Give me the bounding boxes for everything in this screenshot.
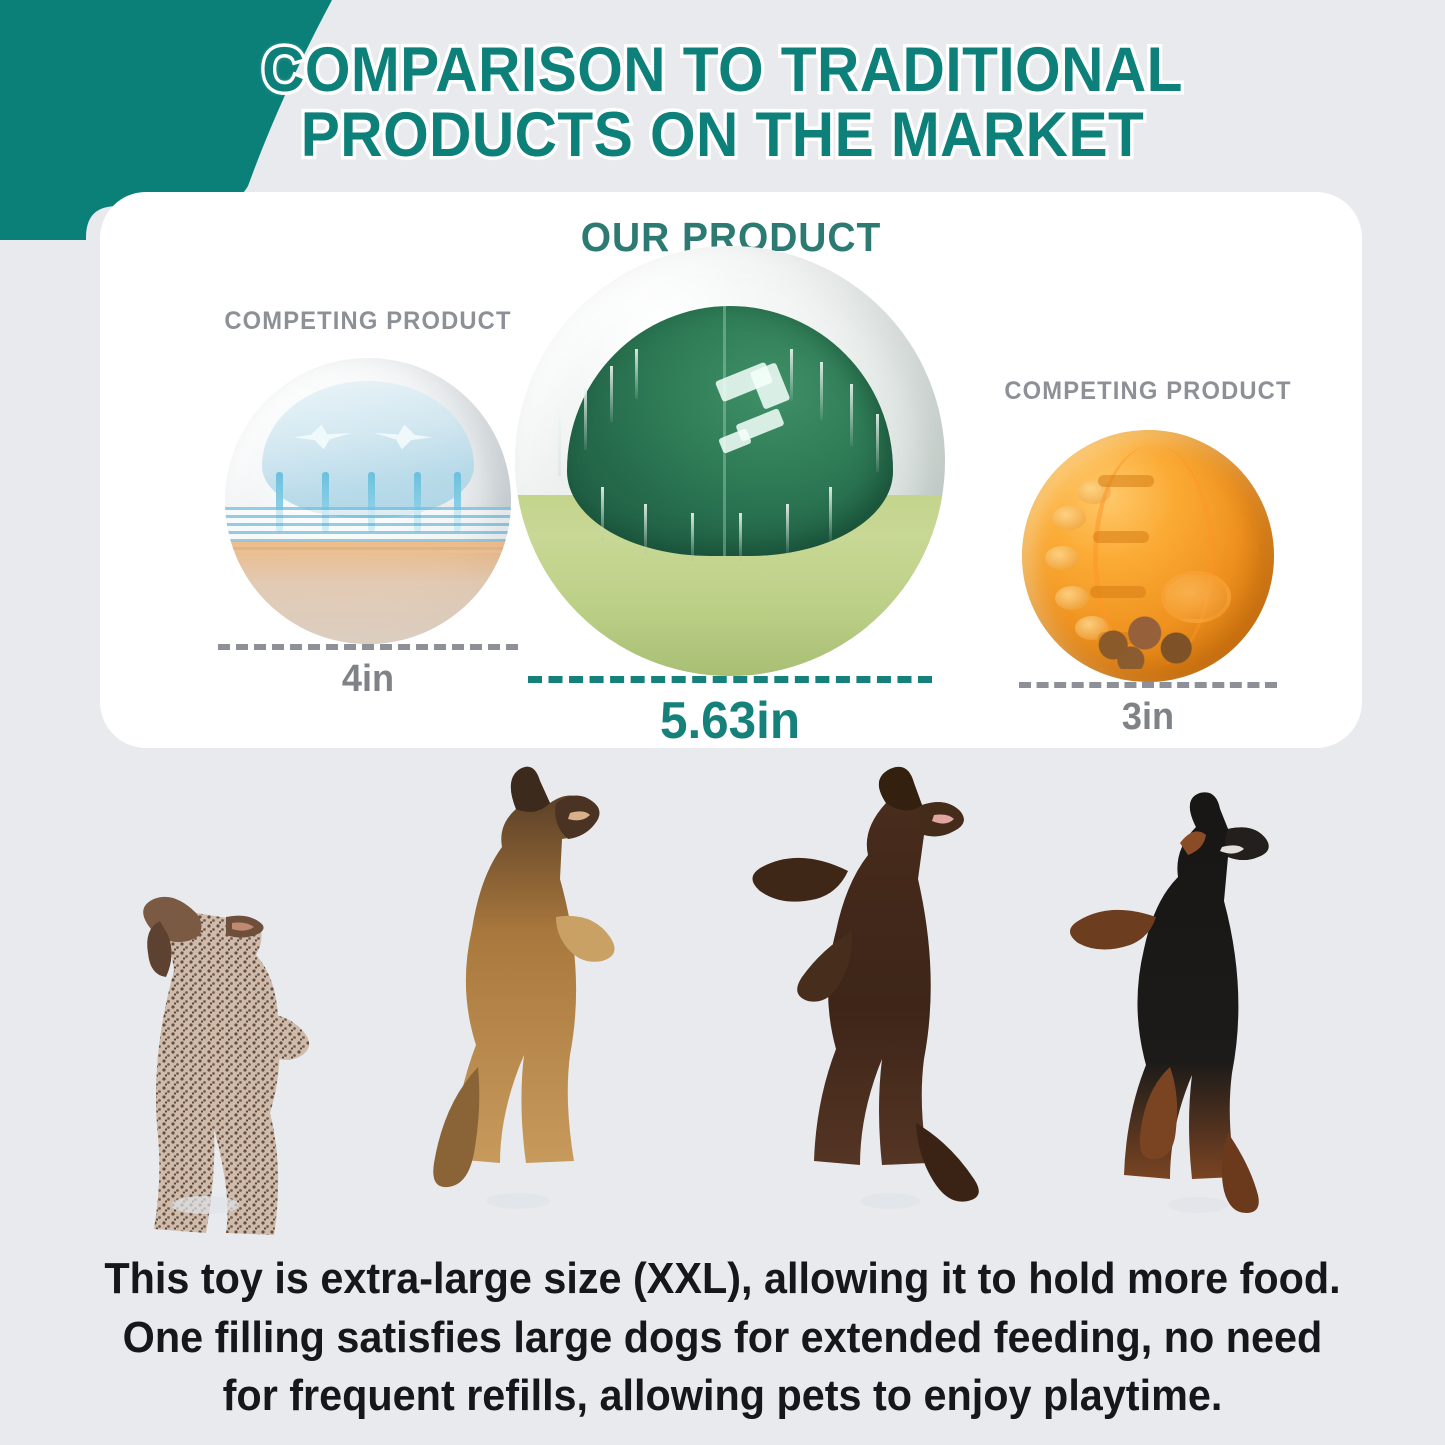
page-title-line-1: COMPARISON TO TRADITIONAL: [51, 38, 1395, 103]
dog-german-shepherd: [433, 767, 614, 1209]
orange-dimpled-treat-ball-icon: [1022, 430, 1274, 682]
competing-product-label-right: COMPETING PRODUCT: [949, 377, 1348, 406]
dogs-photo-row: [0, 735, 1445, 1245]
comparison-column-right: COMPETING PRODUCT 3in: [938, 377, 1358, 682]
size-label-center: 5.63in: [493, 691, 968, 751]
competing-product-image-right: [938, 406, 1358, 682]
measure-dash-right: [1019, 682, 1277, 688]
our-product-image: [480, 232, 980, 676]
caption-line-3: for frequent refills, allowing pets to e…: [43, 1367, 1401, 1426]
dog-german-shorthaired-pointer: [143, 897, 309, 1235]
caption-line-2: One filling satisfies large dogs for ext…: [43, 1309, 1401, 1368]
dog-chocolate-labrador: [752, 767, 978, 1209]
size-label-right: 3in: [949, 696, 1348, 739]
measurement-center: 5.63in: [480, 676, 980, 751]
page-title: COMPARISON TO TRADITIONAL PRODUCTS ON TH…: [0, 38, 1445, 168]
comparison-column-center: 5.63in: [480, 232, 980, 676]
measure-dash-left: [218, 644, 518, 650]
dog-doberman: [1070, 792, 1269, 1213]
clear-blue-treat-ball-icon: [225, 358, 511, 644]
green-dome-treat-ball-icon: [515, 246, 945, 676]
caption-line-1: This toy is extra-large size (XXL), allo…: [43, 1250, 1401, 1309]
comparison-card: OUR PRODUCT COMPETING PRODUCT 4in: [100, 192, 1362, 748]
page-title-line-2: PRODUCTS ON THE MARKET: [51, 103, 1395, 168]
measure-dash-center: [528, 676, 932, 683]
measurement-right: 3in: [938, 682, 1358, 739]
product-caption: This toy is extra-large size (XXL), allo…: [43, 1250, 1401, 1426]
